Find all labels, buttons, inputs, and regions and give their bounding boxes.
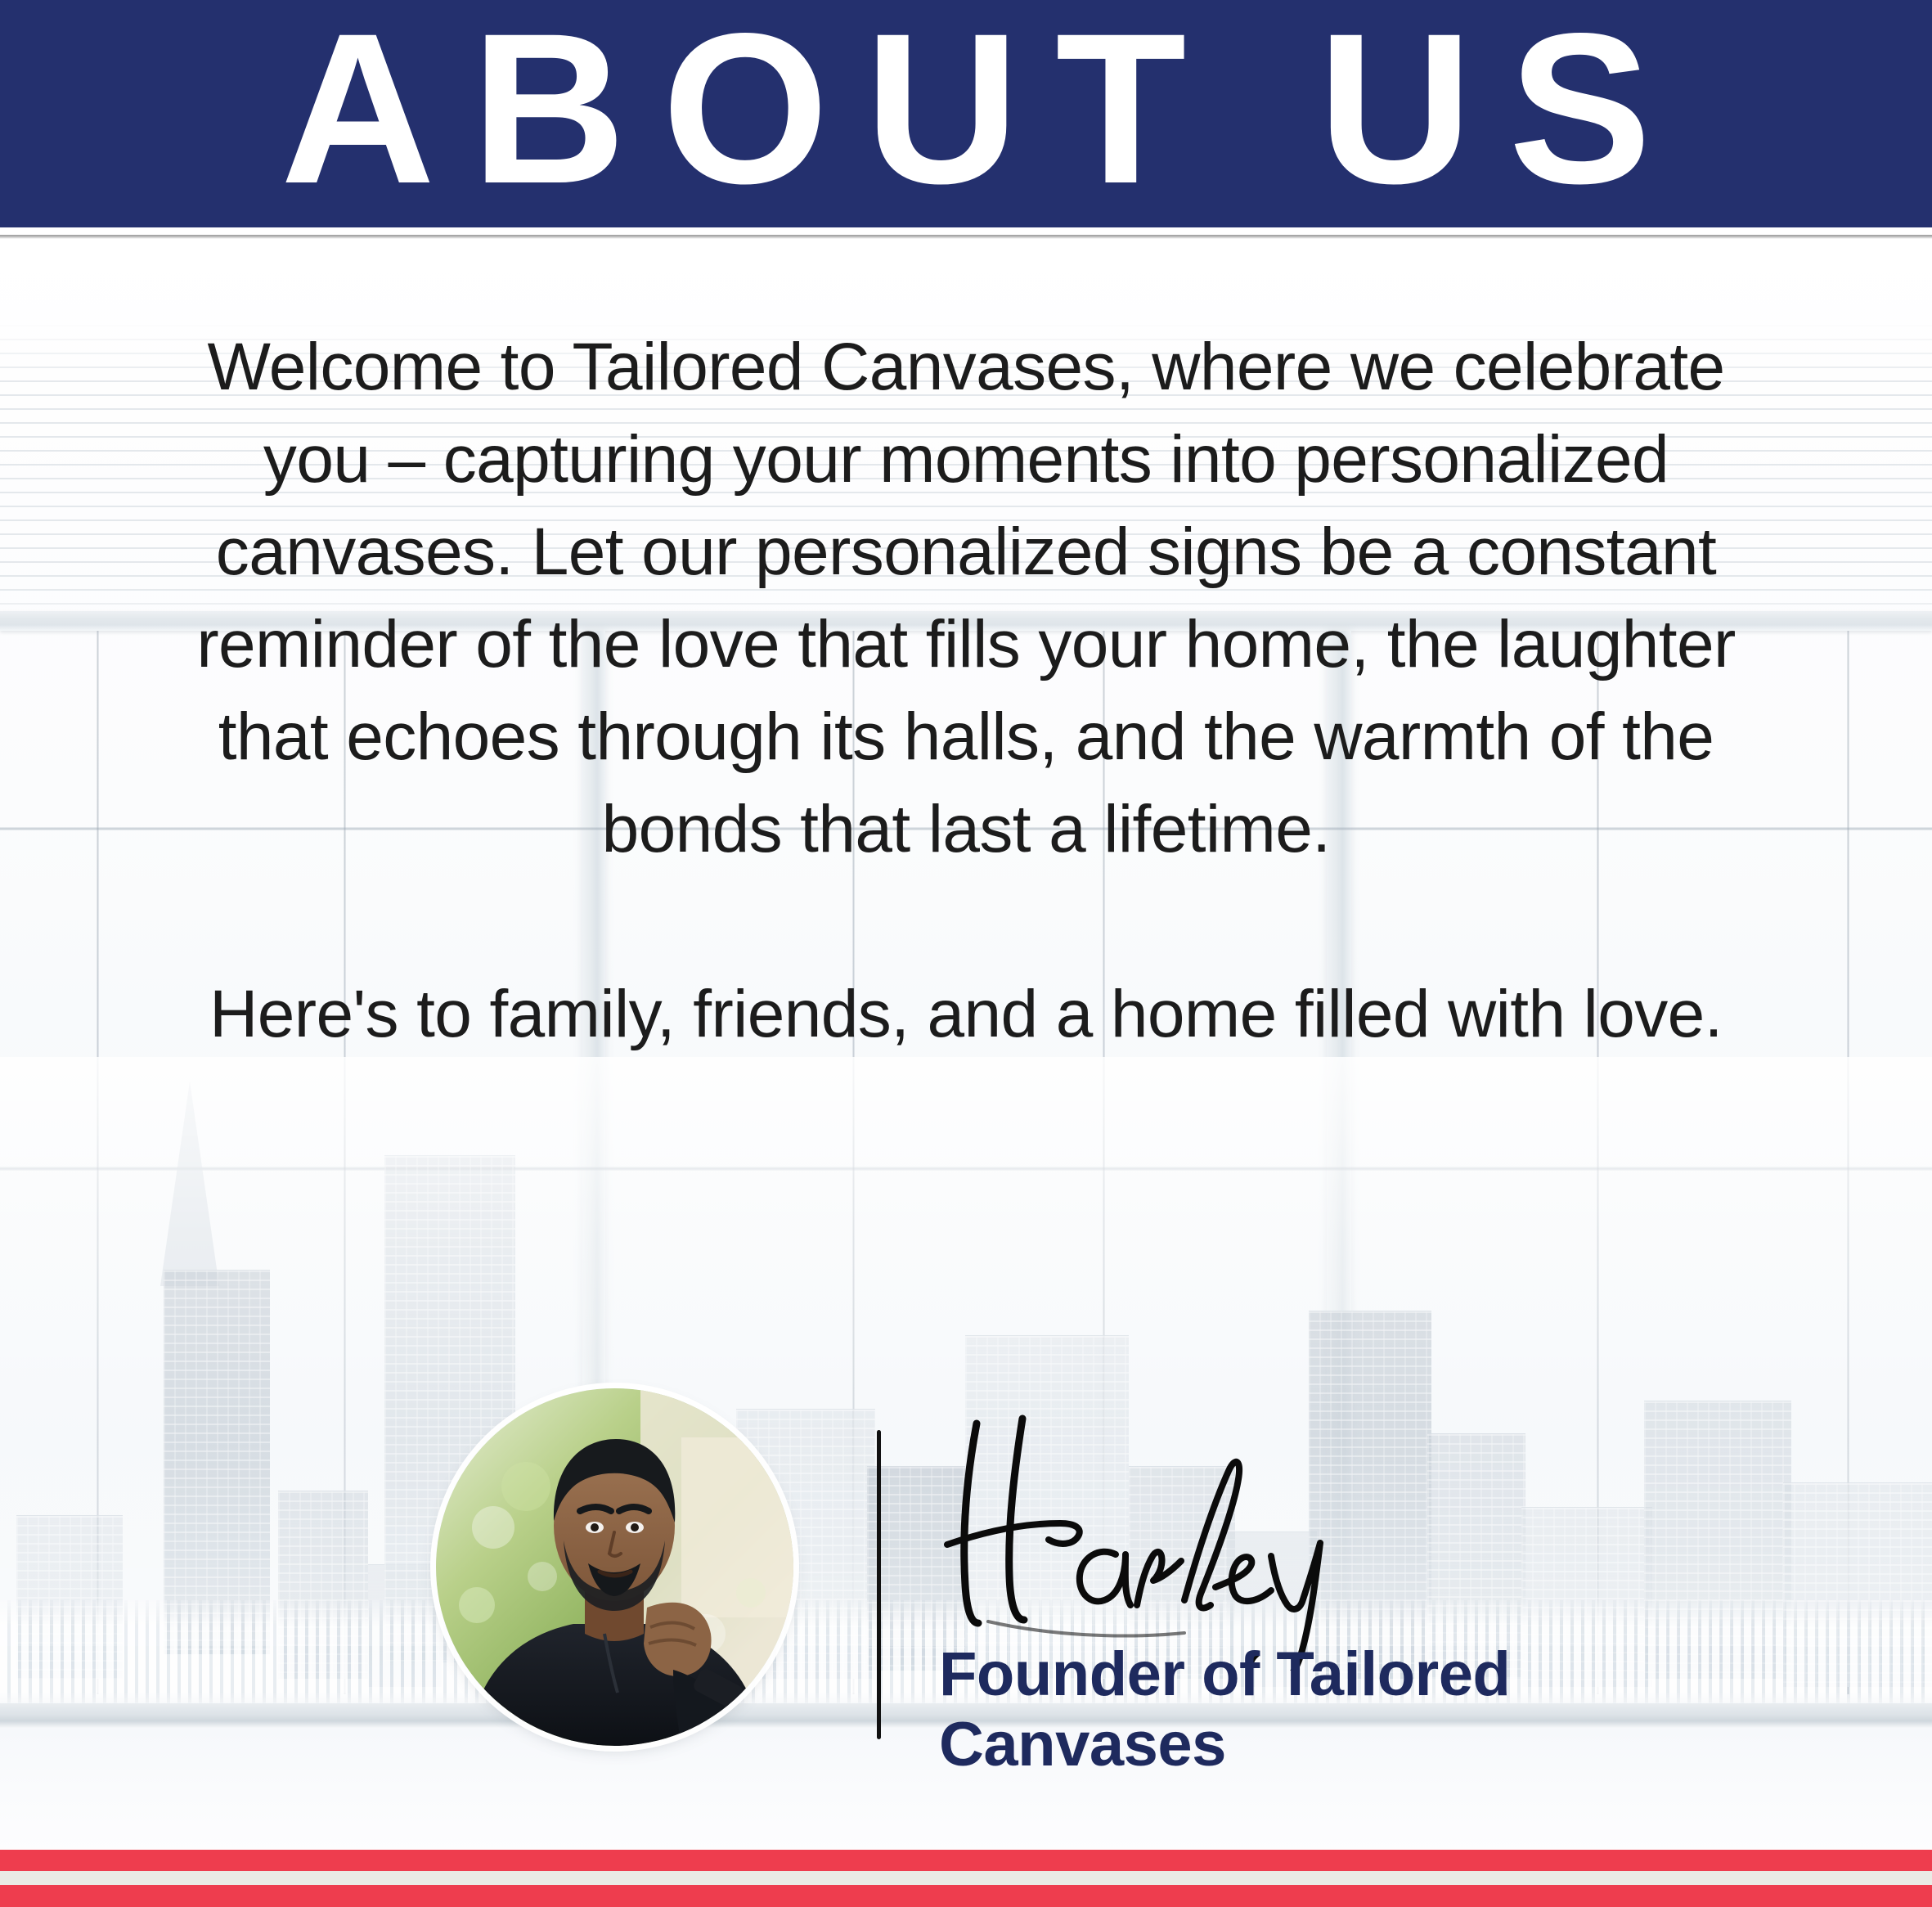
header-gap <box>0 227 1932 235</box>
paragraph-spacer <box>164 875 1768 968</box>
signature-divider <box>877 1430 881 1739</box>
pyramid-tower-spire <box>160 1082 219 1286</box>
about-paragraph-2: Here's to family, friends, and a home fi… <box>164 968 1768 1060</box>
avatar <box>436 1388 793 1746</box>
founder-role-line-2: Canvases <box>939 1710 1773 1780</box>
skyline-building <box>164 1270 270 1654</box>
founder-role-line-1: Founder of Tailored <box>939 1639 1773 1710</box>
signature-harley <box>914 1401 1552 1671</box>
founder-role: Founder of Tailored Canvases <box>939 1639 1773 1780</box>
about-us-card: ABOUT US Welcome to Tailored Canvases, w… <box>0 0 1932 1907</box>
header-divider-rule <box>0 235 1932 239</box>
footer-stripe-gap <box>0 1871 1932 1885</box>
header-banner: ABOUT US <box>0 0 1932 227</box>
footer-stripe-bottom <box>0 1885 1932 1907</box>
about-us-copy: Welcome to Tailored Canvases, where we c… <box>164 321 1768 1060</box>
page-title: ABOUT US <box>0 0 1932 223</box>
footer-stripe-top <box>0 1850 1932 1871</box>
about-paragraph-1: Welcome to Tailored Canvases, where we c… <box>164 321 1768 875</box>
